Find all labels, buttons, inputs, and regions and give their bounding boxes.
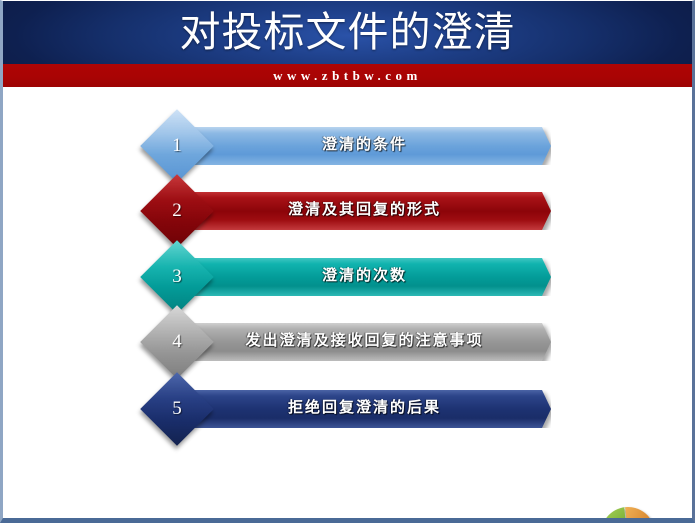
- chevron-bar-2[interactable]: [178, 192, 551, 230]
- list-item[interactable]: 拒绝回复澄清的后果 5: [151, 389, 551, 429]
- slide-body: 澄清的条件 1 澄清及其回复的形式 2 澄清的次数 3: [3, 89, 692, 519]
- chevron-bar-fill: [178, 127, 551, 165]
- website-url: www.zbtbw.com: [3, 64, 692, 87]
- chevron-bar-4[interactable]: [178, 323, 551, 361]
- presentation-slide: 对投标文件的澄清 www.zbtbw.com 澄清的条件 1 澄清及其回复的形式…: [0, 0, 695, 523]
- list-item[interactable]: 发出澄清及接收回复的注意事项 4: [151, 322, 551, 362]
- step-diamond-3[interactable]: [140, 240, 214, 314]
- step-diamond-5[interactable]: [140, 372, 214, 446]
- step-diamond-4[interactable]: [140, 305, 214, 379]
- step-diamond-2[interactable]: [140, 174, 214, 248]
- step-diamond-1[interactable]: [140, 109, 214, 183]
- chevron-bar-1[interactable]: [178, 127, 551, 165]
- chevron-bar-fill: [178, 258, 551, 296]
- recycle-arrows-logo: [597, 503, 659, 523]
- chevron-bar-fill: [178, 323, 551, 361]
- list-item[interactable]: 澄清的条件 1: [151, 126, 551, 166]
- chevron-bar-fill: [178, 192, 551, 230]
- chevron-bar-5[interactable]: [178, 390, 551, 428]
- page-title: 对投标文件的澄清: [3, 1, 692, 64]
- list-item[interactable]: 澄清及其回复的形式 2: [151, 191, 551, 231]
- list-item[interactable]: 澄清的次数 3: [151, 257, 551, 297]
- chevron-bar-fill: [178, 390, 551, 428]
- chevron-bar-3[interactable]: [178, 258, 551, 296]
